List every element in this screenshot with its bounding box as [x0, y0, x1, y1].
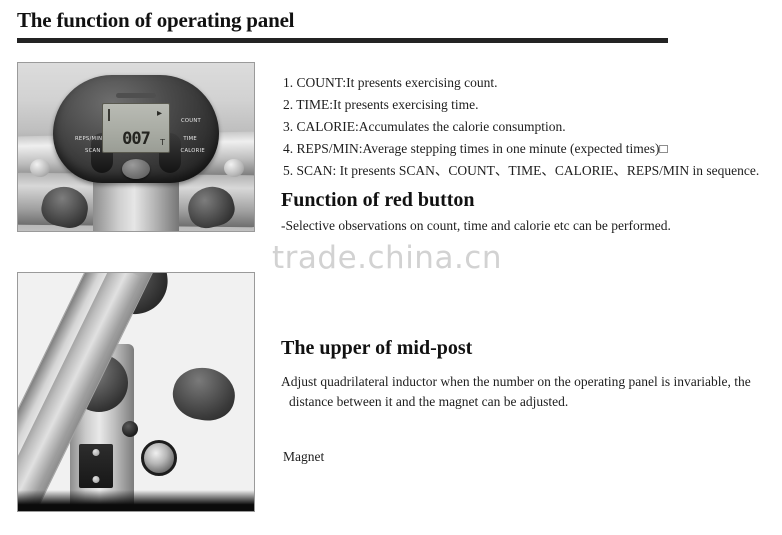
function-list-item-reps-min: 4. REPS/MIN:Average stepping times in on… [283, 142, 668, 156]
lcd-mode-tick [108, 109, 110, 121]
panel-label-count: COUNT [181, 119, 201, 124]
knob-left [30, 159, 50, 177]
sensor-block [79, 444, 113, 488]
page-title: The function of operating panel [17, 8, 294, 33]
lcd-arrow-icon: ▸ [157, 109, 162, 119]
function-list-item-count: 1. COUNT:It presents exercising count. [283, 76, 498, 90]
mid-post-section-body: Adjust quadrilateral inductor when the n… [281, 372, 755, 411]
lcd-unit: T [160, 138, 165, 147]
lcd-display: ▸ 007 T [102, 103, 170, 153]
title-underline-rule [17, 38, 668, 43]
panel-label-time: TIME [183, 137, 197, 142]
operating-panel-image-inner: ▸ 007 T REPS/MIN SCAN COUNT TIME CALORIE [18, 63, 254, 231]
sensor-screw-bottom [93, 476, 100, 483]
red-button-section-body: -Selective observations on count, time a… [281, 216, 751, 236]
red-button [122, 159, 150, 179]
function-list-item-scan: 5. SCAN: It presents SCAN、COUNT、TIME、CAL… [283, 164, 759, 178]
mid-post-body-line-1: Adjust quadrilateral inductor when the n… [281, 374, 751, 389]
watermark-text: trade.china.cn [272, 240, 502, 276]
operating-panel-image: ▸ 007 T REPS/MIN SCAN COUNT TIME CALORIE [17, 62, 255, 232]
inductor-screw [122, 421, 138, 437]
knob-right [224, 159, 244, 177]
panel-label-scan: SCAN [85, 149, 101, 154]
red-button-section-title: Function of red button [281, 190, 475, 210]
function-list-item-calorie: 3. CALORIE:Accumulates the calorie consu… [283, 120, 566, 134]
mid-post-body-line-2: distance between it and the magnet can b… [281, 392, 755, 412]
console-housing: ▸ 007 T REPS/MIN SCAN COUNT TIME CALORIE [53, 75, 219, 183]
mid-post-image [17, 272, 255, 512]
panel-label-calorie: CALORIE [181, 149, 205, 154]
panel-label-reps-min: REPS/MIN [75, 137, 102, 142]
magnet-caption-label: Magnet [283, 450, 324, 464]
console-slot [116, 93, 156, 98]
adjust-bolt [141, 440, 177, 476]
mid-post-section-title: The upper of mid-post [281, 338, 472, 358]
midpost-shadow [18, 490, 254, 511]
sensor-screw-top [93, 449, 100, 456]
function-list-item-time: 2. TIME:It presents exercising time. [283, 98, 478, 112]
mid-post-image-inner [18, 273, 254, 511]
